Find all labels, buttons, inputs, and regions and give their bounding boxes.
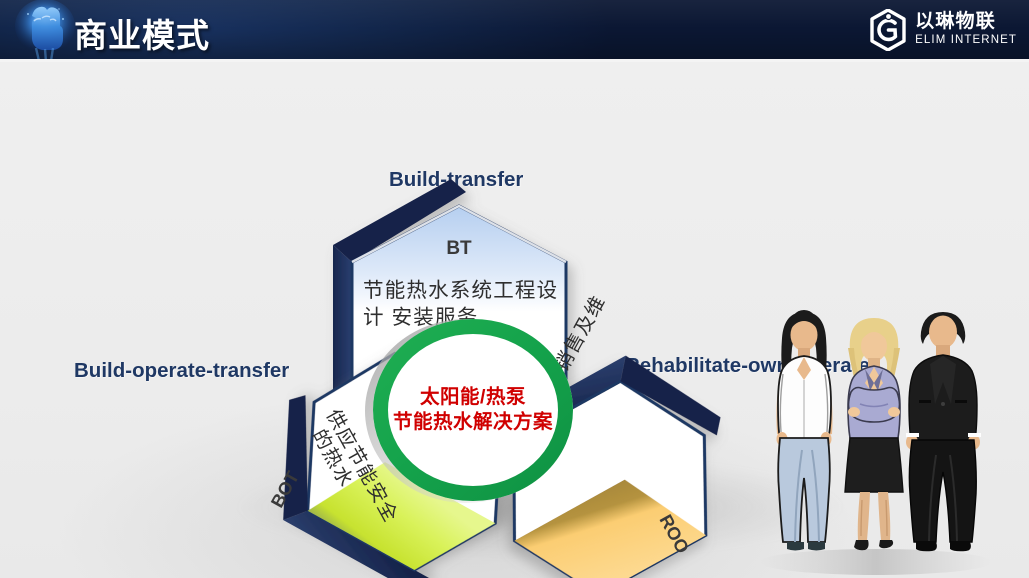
center-text-line1: 太阳能/热泵 [420,385,526,408]
slide-body: Build-transfer Build-operate-transfer Re… [0,62,1029,578]
person-woman-blonde [845,318,903,550]
person-woman-dark-hair [776,310,832,551]
center-text-line2: 节能热水解决方案 [393,410,553,433]
business-people-illustration [756,300,996,578]
slide-header: 商业模式 以琳物联 ELIM INTERNET [0,0,1029,59]
brand-name-cn: 以琳物联 [915,12,1017,32]
page-title: 商业模式 [74,9,210,57]
brand-logo: 以琳物联 ELIM INTERNET [868,8,1017,52]
person-man-black-suit [906,312,981,551]
hex-body-bt-line1: 节能热水系统工程设 [363,279,558,302]
slide-root: 商业模式 以琳物联 ELIM INTERNET Build-transfer B… [0,0,1029,578]
brand-logo-text: 以琳物联 ELIM INTERNET [915,12,1017,47]
hexagon-g-logo-icon [868,9,908,51]
blue-fist-icon [12,0,78,59]
brand-name-en: ELIM INTERNET [915,33,1017,47]
hex-tag-bt: BT [446,238,472,259]
